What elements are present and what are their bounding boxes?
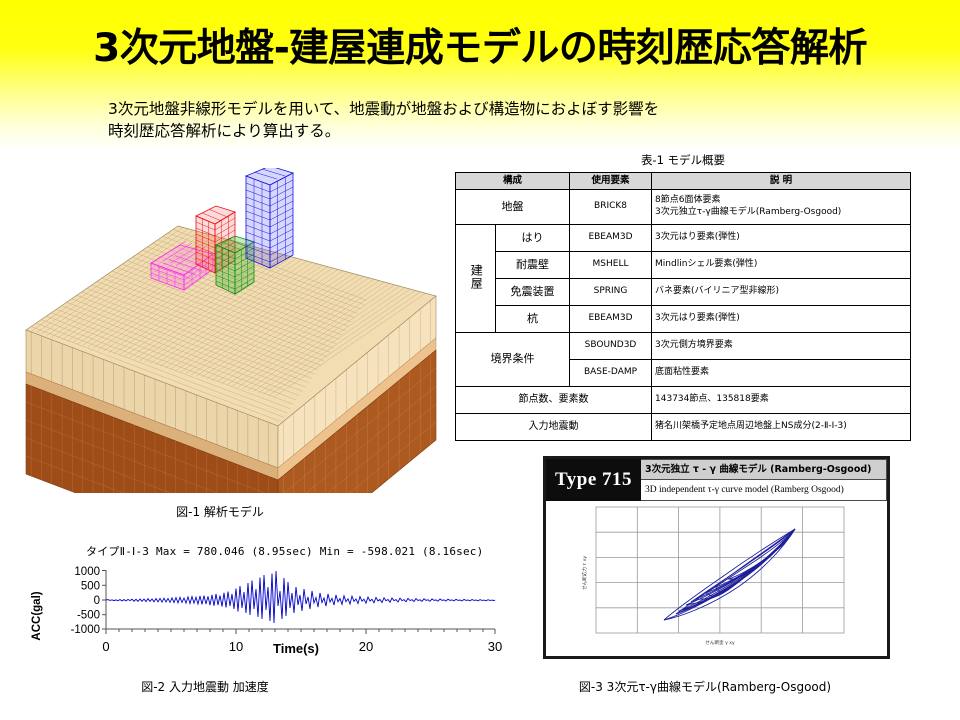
row-ground-desc-line2: 3次元独立τ-γ曲線モデル(Ramberg-Osgood): [655, 207, 907, 219]
table-row: 建屋 はり EBEAM3D 3次元はり要素(弾性): [456, 224, 911, 251]
acceleration-waveform: [106, 571, 495, 623]
row-pile-element: EBEAM3D: [570, 305, 652, 332]
type715-title-jp: 3次元独立 τ - γ 曲線モデル (Ramberg-Osgood): [641, 459, 887, 480]
table-header-row: 構成 使用要素 説 明: [456, 173, 911, 190]
building-blue: [246, 168, 293, 268]
analysis-model-figure: [18, 168, 443, 493]
slide-root: 3次元地盤-建屋連成モデルの時刻歴応答解析 3次元地盤非線形モデルを用いて、地震…: [0, 0, 960, 720]
x-tick-30: 30: [488, 639, 502, 654]
row-beam-element: EBEAM3D: [570, 224, 652, 251]
y-axis-label: ACC(gal): [31, 591, 43, 640]
figure3-caption: 図-3 3次元τ-γ曲線モデル(Ramberg-Osgood): [535, 678, 875, 695]
row-basedamp-desc: 底面粘性要素: [652, 359, 911, 386]
row-isolator-desc: バネ要素(バイリニア型非線形): [652, 278, 911, 305]
hysteresis-plot-svg: せん断応力 τ xy せん断歪 γ xy: [546, 501, 887, 656]
y-tick-1000: 1000: [74, 566, 100, 578]
row-wall-desc: Mindlinシェル要素(弾性): [652, 251, 911, 278]
figure1-caption: 図-1 解析モデル: [110, 503, 330, 520]
row-ground-desc: 8節点6面体要素 3次元独立τ-γ曲線モデル(Ramberg-Osgood): [652, 189, 911, 224]
soil-block-3d-graphic: [18, 168, 443, 493]
y-tick-0: 0: [94, 595, 100, 607]
row-ground-part: 地盤: [456, 189, 570, 224]
x-axis-label: Time(s): [273, 641, 319, 656]
summary-value-nodes: 143734節点、135818要素: [652, 386, 911, 413]
y-tick-m1000: -1000: [71, 624, 100, 636]
x-tick-20: 20: [359, 639, 373, 654]
type715-plot-area: せん断応力 τ xy せん断歪 γ xy: [546, 501, 887, 656]
table-row: 入力地震動 猪名川架橋予定地点周辺地盤上NS成分(2-Ⅱ-Ⅰ-3): [456, 413, 911, 440]
header-composition: 構成: [456, 173, 570, 190]
summary-label-input-motion: 入力地震動: [456, 413, 652, 440]
figure2-note: タイプⅡ-Ⅰ-3 Max = 780.046 (8.95sec) Min = -…: [86, 543, 483, 559]
row-wall-element: MSHELL: [570, 251, 652, 278]
row-sbound-desc: 3次元側方境界要素: [652, 332, 911, 359]
lead-line-2: 時刻歴応答解析により算出する。: [108, 120, 898, 142]
table-row: 地盤 BRICK8 8節点6面体要素 3次元独立τ-γ曲線モデル(Ramberg…: [456, 189, 911, 224]
table-row: 境界条件 SBOUND3D 3次元側方境界要素: [456, 332, 911, 359]
y-tick-m500: -500: [77, 610, 100, 622]
table-row: 節点数、要素数 143734節点、135818要素: [456, 386, 911, 413]
model-summary-table: 構成 使用要素 説 明 地盤 BRICK8 8節点6面体要素 3次元独立τ-γ曲…: [455, 172, 911, 441]
row-pile-desc: 3次元はり要素(弾性): [652, 305, 911, 332]
acceleration-plot-svg: ACC(gal) 1000 500 0 -500 -1000: [28, 561, 518, 669]
header-element: 使用要素: [570, 173, 652, 190]
table-caption: 表-1 モデル概要: [455, 152, 911, 168]
x-tick-10: 10: [229, 639, 243, 654]
row-ground-element: BRICK8: [570, 189, 652, 224]
row-wall-part: 耐震壁: [496, 251, 570, 278]
page-title: 3次元地盤-建屋連成モデルの時刻歴応答解析: [0, 17, 960, 73]
group-label-building: 建屋: [456, 224, 496, 332]
x-tick-0: 0: [102, 639, 109, 654]
row-ground-desc-line1: 8節点6面体要素: [655, 195, 907, 207]
lead-paragraph: 3次元地盤非線形モデルを用いて、地震動が地盤および構造物におよぼす影響を 時刻歴…: [108, 98, 898, 142]
type715-title-block: 3次元独立 τ - γ 曲線モデル (Ramberg-Osgood) 3D in…: [641, 459, 887, 501]
type715-panel: Type 715 3次元独立 τ - γ 曲線モデル (Ramberg-Osgo…: [543, 456, 890, 659]
type715-title-en: 3D independent τ-γ curve model (Ramberg …: [641, 480, 887, 501]
table-row: 杭 EBEAM3D 3次元はり要素(弾性): [456, 305, 911, 332]
row-sbound-element: SBOUND3D: [570, 332, 652, 359]
figure2-caption: 図-2 入力地震動 加速度: [90, 678, 320, 695]
summary-value-input-motion: 猪名川架橋予定地点周辺地盤上NS成分(2-Ⅱ-Ⅰ-3): [652, 413, 911, 440]
row-beam-part: はり: [496, 224, 570, 251]
type715-badge: Type 715: [546, 459, 641, 501]
row-pile-part: 杭: [496, 305, 570, 332]
row-beam-desc: 3次元はり要素(弾性): [652, 224, 911, 251]
summary-label-nodes: 節点数、要素数: [456, 386, 652, 413]
table-row: 耐震壁 MSHELL Mindlinシェル要素(弾性): [456, 251, 911, 278]
table-row: 免震装置 SPRING バネ要素(バイリニア型非線形): [456, 278, 911, 305]
hysteresis-x-axis-label: せん断歪 γ xy: [705, 639, 735, 646]
row-isolator-part: 免震装置: [496, 278, 570, 305]
row-isolator-element: SPRING: [570, 278, 652, 305]
y-tick-500: 500: [81, 581, 100, 593]
acceleration-chart: タイプⅡ-Ⅰ-3 Max = 780.046 (8.95sec) Min = -…: [28, 543, 518, 668]
row-basedamp-element: BASE-DAMP: [570, 359, 652, 386]
header-description: 説 明: [652, 173, 911, 190]
group-label-boundary: 境界条件: [456, 332, 570, 386]
hysteresis-y-axis-label: せん断応力 τ xy: [581, 556, 588, 590]
lead-line-1: 3次元地盤非線形モデルを用いて、地震動が地盤および構造物におよぼす影響を: [108, 98, 898, 120]
group-label-building-text: 建屋: [470, 264, 482, 290]
type715-header: Type 715 3次元独立 τ - γ 曲線モデル (Ramberg-Osgo…: [546, 459, 887, 501]
